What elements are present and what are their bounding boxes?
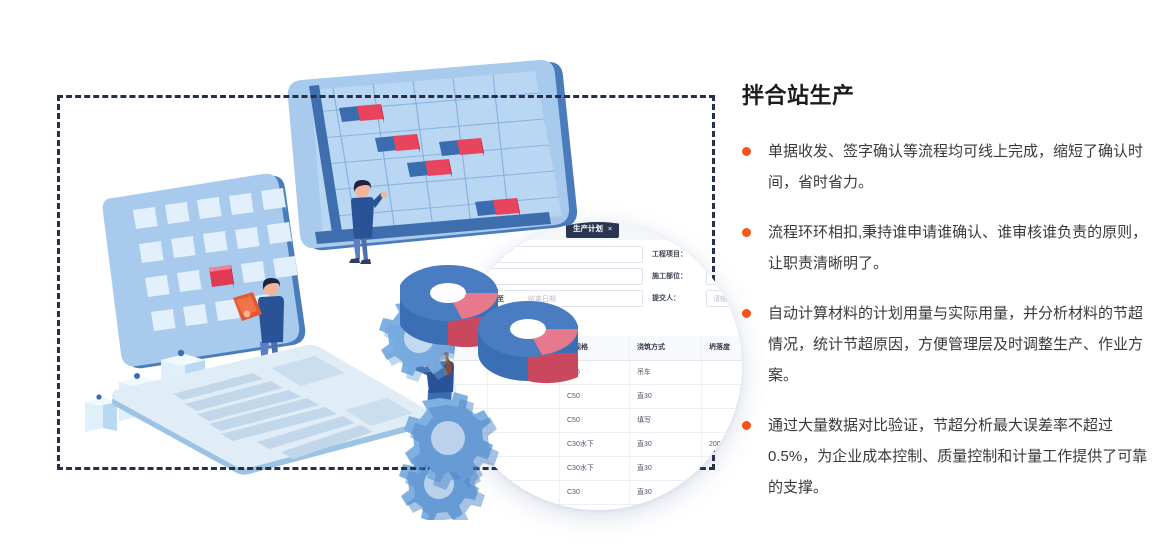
cell-pour-method: 直30	[630, 505, 702, 510]
feature-text: 单据收发、签字确认等流程均可线上完成，缩短了确认时间，省时省力。	[768, 143, 1143, 191]
illustration-stage: …计划× 生产计划× 工程项目： ⌕成品规格 施工部位： ⌕施工…	[0, 0, 1170, 558]
cell-spec: C50	[560, 409, 630, 432]
gear-lower-overlay	[404, 392, 514, 502]
cell-pour-method: 直30	[630, 481, 702, 504]
cell-spec: C30水下	[560, 457, 630, 480]
tab-inactive-label: …计划	[505, 224, 528, 233]
feature-list-item: 单据收发、签字确认等流程均可线上完成，缩短了确认时间，省时省力。	[742, 136, 1157, 198]
cell-slump: 200±20	[702, 433, 742, 456]
tab-bar: …计划× 生产计划×	[454, 222, 742, 241]
cell-spec: C30水下	[560, 433, 630, 456]
site-label: 施工部位：	[652, 268, 687, 285]
cell-pour-method: 吊车	[630, 361, 702, 384]
bullet-dot-icon	[742, 228, 751, 237]
cell-slump	[702, 409, 742, 432]
cell-pour-method: 直30	[630, 433, 702, 456]
close-icon[interactable]: ×	[608, 226, 612, 233]
table-row[interactable]: …万加城防城…C15直30160±20	[454, 505, 742, 510]
close-icon[interactable]: ×	[533, 226, 537, 233]
project-label: 工程项目：	[652, 246, 687, 263]
cell-pour-method: 直30	[630, 457, 702, 480]
page-title: 拌合站生产	[742, 78, 1157, 110]
submitter-label: 提交人：	[652, 290, 680, 307]
donut-chart-group	[400, 255, 600, 395]
cell-slump	[702, 361, 742, 384]
site-placeholder: 施工…	[719, 274, 740, 281]
col-pour-method: 浇筑方式	[630, 336, 702, 360]
cell-site: …万加城防城…	[454, 505, 488, 510]
content-panel: 拌合站生产 单据收发、签字确认等流程均可线上完成，缩短了确认时间，省时省力。流程…	[742, 78, 1157, 522]
feature-list-item: 自动计算材料的计划用量与实际用量，并分析材料的节超情况，统计节超原因，方便管理层…	[742, 298, 1157, 391]
site-input[interactable]: ⌕施工…	[706, 268, 742, 285]
cell-pour-method: 直30	[630, 385, 702, 408]
tab-active-label: 生产计划	[573, 224, 603, 233]
cell-spec: C15	[560, 505, 630, 510]
feature-text: 自动计算材料的计划用量与实际用量，并分析材料的节超情况，统计节超原因，方便管理层…	[768, 305, 1143, 384]
cell-slump: 160±20	[702, 505, 742, 510]
feature-list-item: 通过大量数据对比验证，节超分析最大误差率不超过0.5%，为企业成本控制、质量控制…	[742, 410, 1157, 503]
bullet-dot-icon	[742, 421, 751, 430]
cell-pour-method: 填写	[630, 409, 702, 432]
tab-inactive[interactable]: …计划×	[498, 222, 544, 238]
cell-slump: 160±20	[702, 481, 742, 504]
bullet-dot-icon	[742, 147, 751, 156]
feature-text: 通过大量数据对比验证，节超分析最大误差率不超过0.5%，为企业成本控制、质量控制…	[768, 417, 1147, 496]
feature-text: 流程环环相扣,秉持谁申请谁确认、谁审核谁负责的原则，让职责清晰明了。	[768, 224, 1147, 272]
donut-chart-right	[478, 301, 578, 383]
bullet-dot-icon	[742, 309, 751, 318]
feature-list: 单据收发、签字确认等流程均可线上完成，缩短了确认时间，省时省力。流程环环相扣,秉…	[742, 136, 1157, 503]
cell-slump	[702, 385, 742, 408]
project-input[interactable]	[706, 246, 742, 263]
feature-list-item: 流程环环相扣,秉持谁申请谁确认、谁审核谁负责的原则，让职责清晰明了。	[742, 217, 1157, 279]
cell-natural	[488, 505, 560, 510]
cell-slump: 200±20	[702, 457, 742, 480]
col-slump: 坍落度	[702, 336, 742, 360]
cell-spec: C30	[560, 481, 630, 504]
tab-active[interactable]: 生产计划×	[566, 222, 619, 238]
submitter-input[interactable]: 请输入提交人	[706, 290, 742, 307]
